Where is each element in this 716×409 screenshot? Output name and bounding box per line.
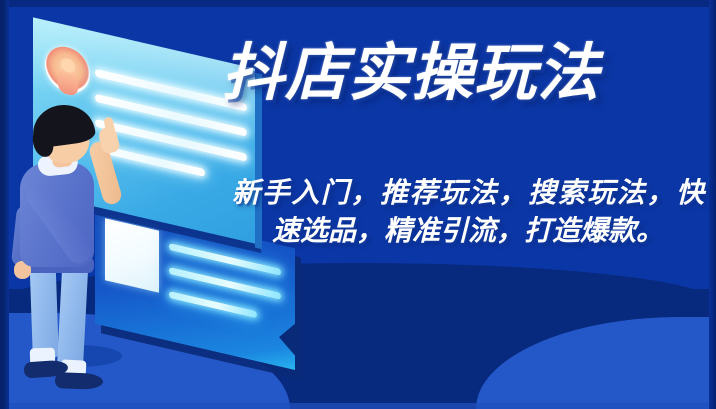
background-edge-right — [709, 0, 716, 409]
lower-card-text-line — [169, 291, 257, 318]
person-shoe-right — [55, 372, 104, 390]
poster-subtitle: 新手入门，推荐玩法，搜索玩法，快速选品，精准引流，打造爆款。 — [232, 174, 704, 249]
standing-person-figure — [8, 105, 138, 395]
poster-title: 抖店实操玩法 — [222, 42, 702, 104]
poster-canvas: 抖店实操玩法 新手入门，推荐玩法，搜索玩法，快速选品，精准引流，打造爆款。 — [0, 0, 716, 409]
